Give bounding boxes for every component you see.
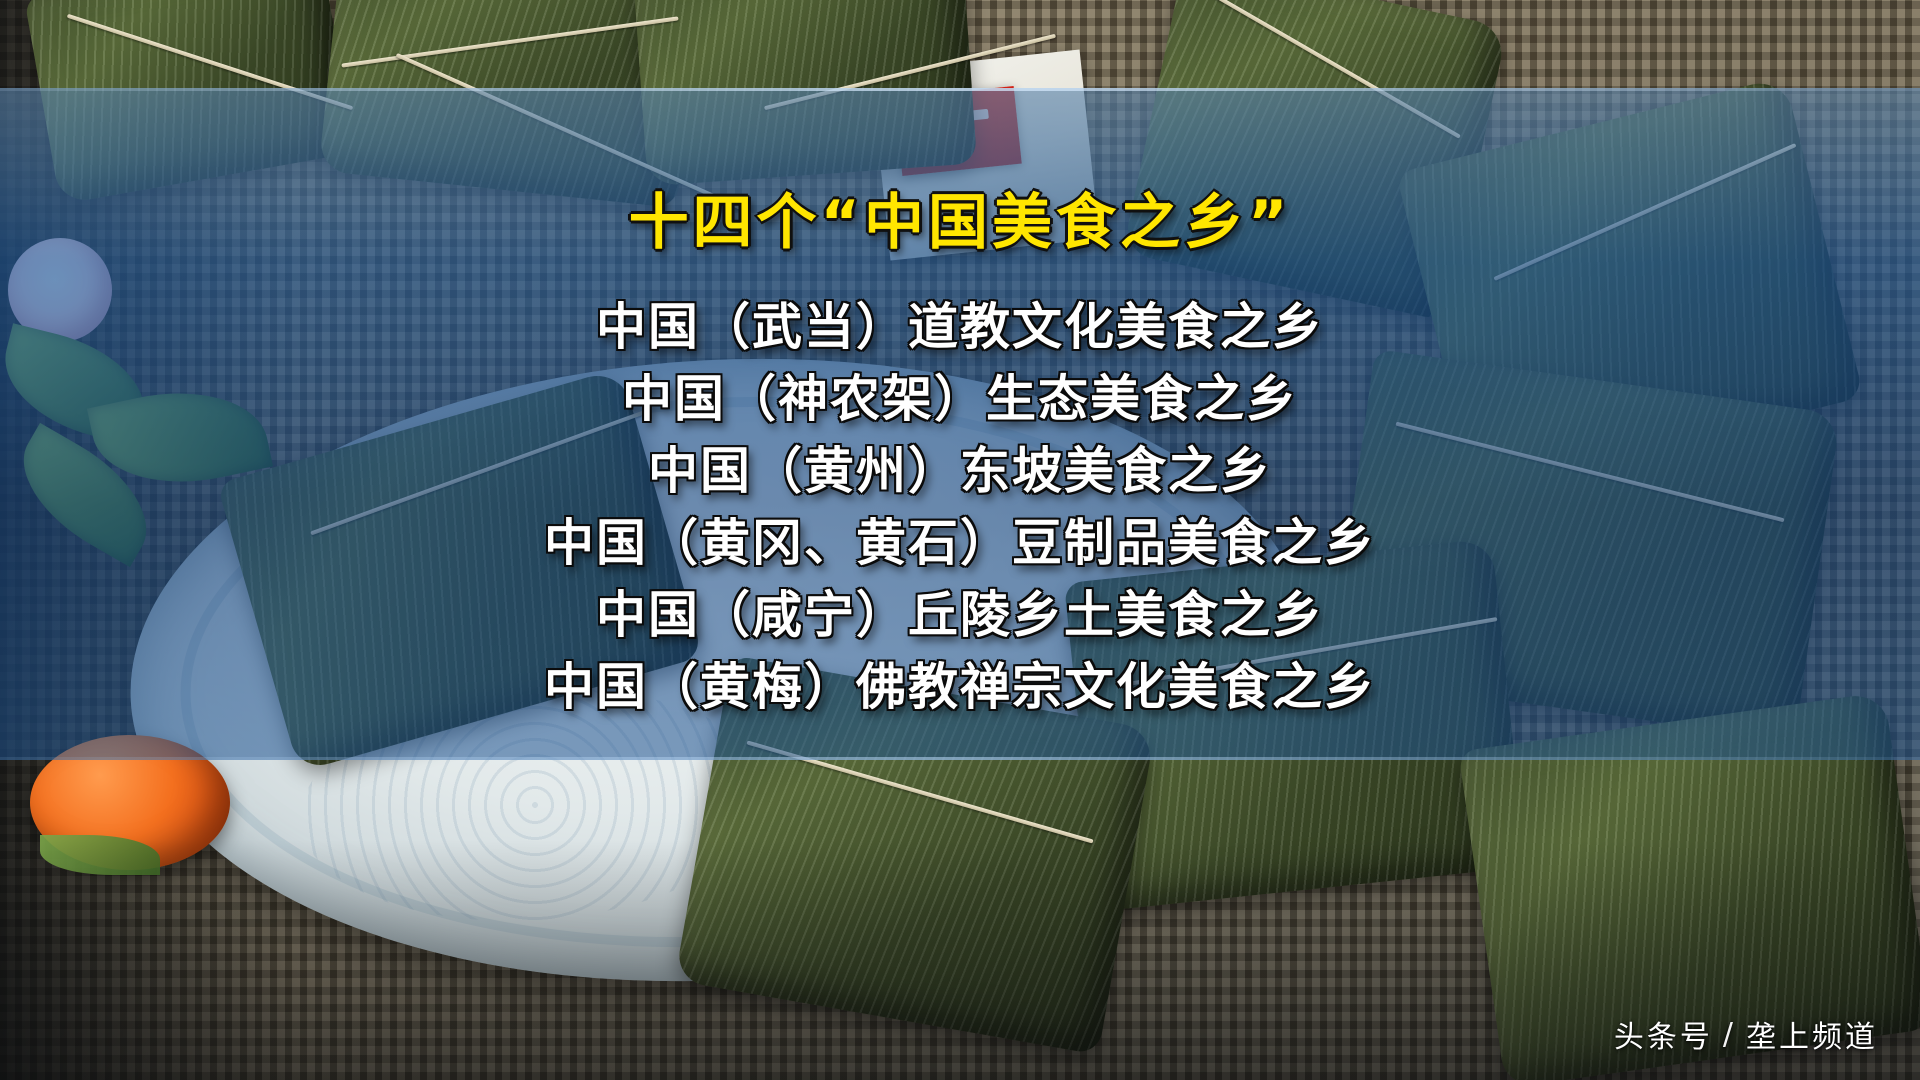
list-item: 中国（咸宁）丘陵乡土美食之乡 xyxy=(596,583,1324,647)
watermark-channel: 垄上频道 xyxy=(1746,1012,1878,1056)
watermark: 头条号 / 垄上频道 xyxy=(1614,1012,1878,1056)
list-item: 中国（神农架）生态美食之乡 xyxy=(622,367,1298,431)
list-item: 中国（武当）道教文化美食之乡 xyxy=(596,295,1324,359)
list-item: 中国（黄梅）佛教禅宗文化美食之乡 xyxy=(544,655,1376,719)
watermark-separator: / xyxy=(1723,1017,1736,1052)
watermark-platform: 头条号 xyxy=(1614,1012,1713,1056)
caption-content: 十四个“中国美食之乡” 中国（武当）道教文化美食之乡 中国（神农架）生态美食之乡… xyxy=(0,88,1920,760)
screenshot-stage: 十四个“中国美食之乡” 中国（武当）道教文化美食之乡 中国（神农架）生态美食之乡… xyxy=(0,0,1920,1080)
caption-list: 中国（武当）道教文化美食之乡 中国（神农架）生态美食之乡 中国（黄州）东坡美食之… xyxy=(544,295,1376,719)
list-item: 中国（黄州）东坡美食之乡 xyxy=(648,439,1272,503)
caption-title: 十四个“中国美食之乡” xyxy=(629,174,1292,261)
list-item: 中国（黄冈、黄石）豆制品美食之乡 xyxy=(544,511,1376,575)
